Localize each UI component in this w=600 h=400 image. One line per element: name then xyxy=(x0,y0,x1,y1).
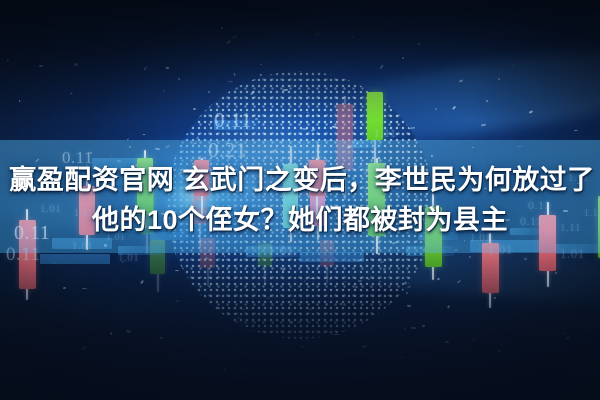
headline: 赢盈配资官网 玄武门之变后，李世民为何放过了 他的10个侄女？她们都被封为县主 xyxy=(0,160,600,240)
banner-image: 0.110.110.111.011.111.011.011.010.110.21… xyxy=(0,0,600,400)
headline-line-2: 他的10个侄女？她们都被封为县主 xyxy=(0,200,600,240)
headline-line-1: 赢盈配资官网 玄武门之变后，李世民为何放过了 xyxy=(0,160,600,200)
